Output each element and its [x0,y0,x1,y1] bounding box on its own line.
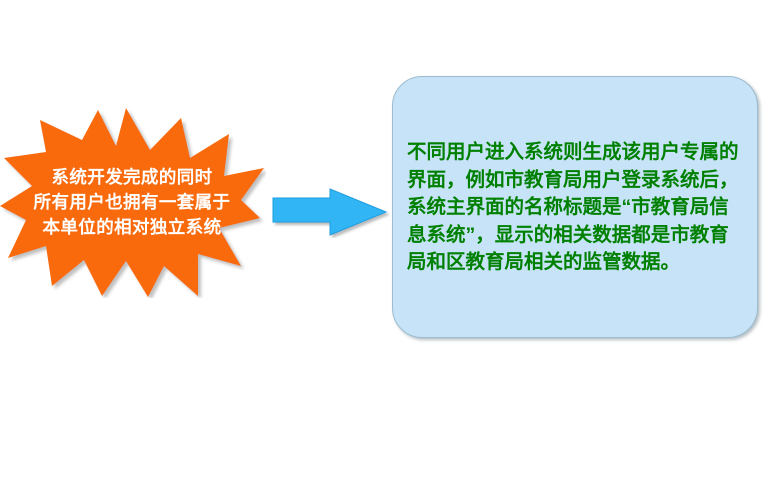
slide-canvas: 系统开发完成的同时 所有用户也拥有一套属于 本单位的相对独立系统 不同用户进入系… [0,0,768,488]
right-arrow-connector[interactable] [270,186,390,238]
description-line-1: 不同用户进入系统则生成该用户专属的 [407,139,747,167]
description-textbox[interactable]: 不同用户进入系统则生成该用户专属的 界面，例如市教育局用户登录系统后， 系统主界… [392,76,758,338]
starburst-callout[interactable]: 系统开发完成的同时 所有用户也拥有一套属于 本单位的相对独立系统 [0,106,266,298]
right-arrow-icon [270,186,390,238]
starburst-polygon [0,108,264,297]
description-line-2: 界面，例如市教育局用户登录系统后， [407,167,747,195]
description-line-5: 局和区教育局相关的监管数据。 [407,249,747,277]
description-text-block: 不同用户进入系统则生成该用户专属的 界面，例如市教育局用户登录系统后， 系统主界… [407,139,747,277]
arrow-polygon [273,189,386,235]
description-line-3: 系统主界面的名称标题是“市教育局信 [407,194,747,222]
starburst-shape [0,106,266,298]
description-line-4: 息系统”，显示的相关数据都是市教育 [407,222,747,250]
